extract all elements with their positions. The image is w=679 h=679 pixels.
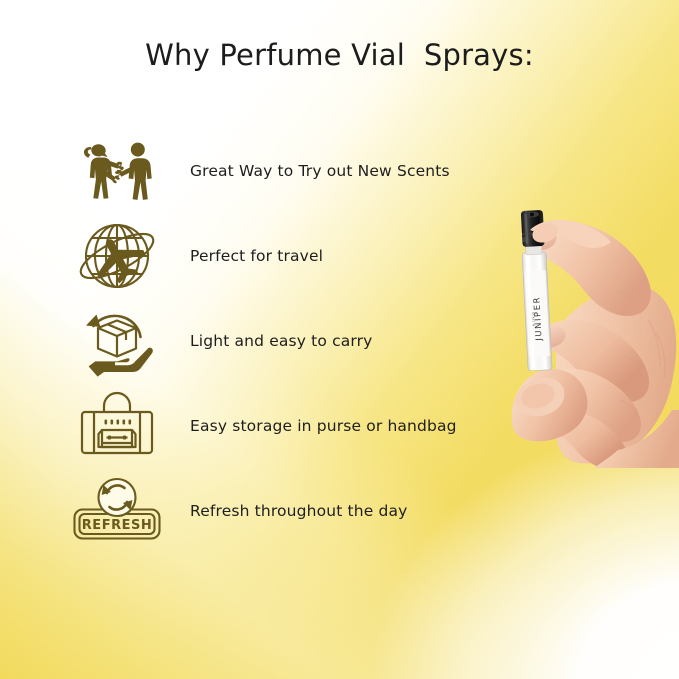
refresh-button-icon: REFRESH [62, 471, 172, 551]
list-item-label: Refresh throughout the day [190, 502, 407, 520]
page-title: Why Perfume Vial Sprays: [0, 38, 679, 72]
globe-airplane-travel-icon [62, 216, 172, 296]
handbag-purse-icon [62, 386, 172, 466]
list-item: REFRESH Refresh throughout the day [0, 468, 679, 553]
two-people-sampling-perfume-icon [62, 131, 172, 211]
package-in-hand-lightweight-icon [62, 301, 172, 381]
list-item-label: Light and easy to carry [190, 332, 373, 350]
list-item-label: Great Way to Try out New Scents [190, 162, 450, 180]
list-item-label: Perfect for travel [190, 247, 323, 265]
refresh-button-text: REFRESH [82, 518, 152, 533]
list-item-label: Easy storage in purse or handbag [190, 417, 457, 435]
hand-holding-perfume-vial-photo: JUNIPER KING [498, 200, 679, 468]
infographic-page: Why Perfume Vial Sprays: [0, 0, 679, 679]
